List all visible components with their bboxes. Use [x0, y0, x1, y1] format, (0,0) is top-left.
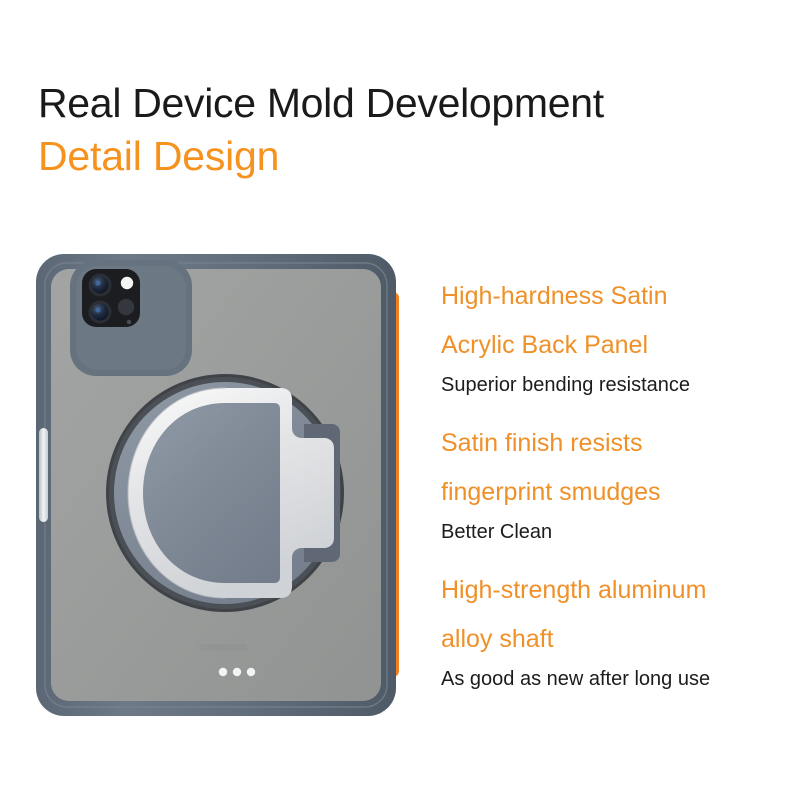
camera-lens-ultrawide-glass	[92, 304, 109, 321]
feature-item: Satin finish resists fingerprint smudges…	[441, 419, 791, 547]
feature-list: High-hardness Satin Acrylic Back Panel S…	[441, 272, 791, 694]
smart-connector-dots	[219, 668, 255, 676]
feature-description: As good as new after long use	[441, 664, 791, 694]
lidar-sensor-icon	[118, 299, 134, 315]
feature-title-line: alloy shaft	[441, 615, 791, 664]
feature-item: High-strength aluminum alloy shaft As go…	[441, 566, 791, 694]
page-title: Real Device Mold Development	[38, 78, 738, 128]
feature-title-line: fingerprint smudges	[441, 468, 791, 517]
volume-button-cutout	[39, 428, 48, 522]
page-heading: Real Device Mold Development Detail Desi…	[38, 78, 738, 184]
feature-title-line: High-hardness Satin	[441, 272, 791, 321]
camera-lens-ultrawide-reflection	[95, 307, 100, 312]
camera-flash-icon	[121, 277, 133, 289]
feature-description: Superior bending resistance	[441, 370, 791, 400]
camera-lens-wide-reflection	[95, 280, 100, 285]
tablet-case-illustration	[34, 252, 434, 722]
feature-title-line: Acrylic Back Panel	[441, 321, 791, 370]
aluminum-alloy-rotating-ring-stand	[106, 374, 344, 612]
product-detail-infographic: Real Device Mold Development Detail Desi…	[0, 0, 800, 800]
feature-description: Better Clean	[441, 517, 791, 547]
feature-title-line: High-strength aluminum	[441, 566, 791, 615]
camera-microphone-icon	[127, 320, 131, 324]
page-subtitle: Detail Design	[38, 128, 738, 184]
panel-branding-text	[199, 644, 247, 651]
feature-title-line: Satin finish resists	[441, 419, 791, 468]
camera-lens-wide-glass	[92, 277, 109, 294]
feature-item: High-hardness Satin Acrylic Back Panel S…	[441, 272, 791, 400]
